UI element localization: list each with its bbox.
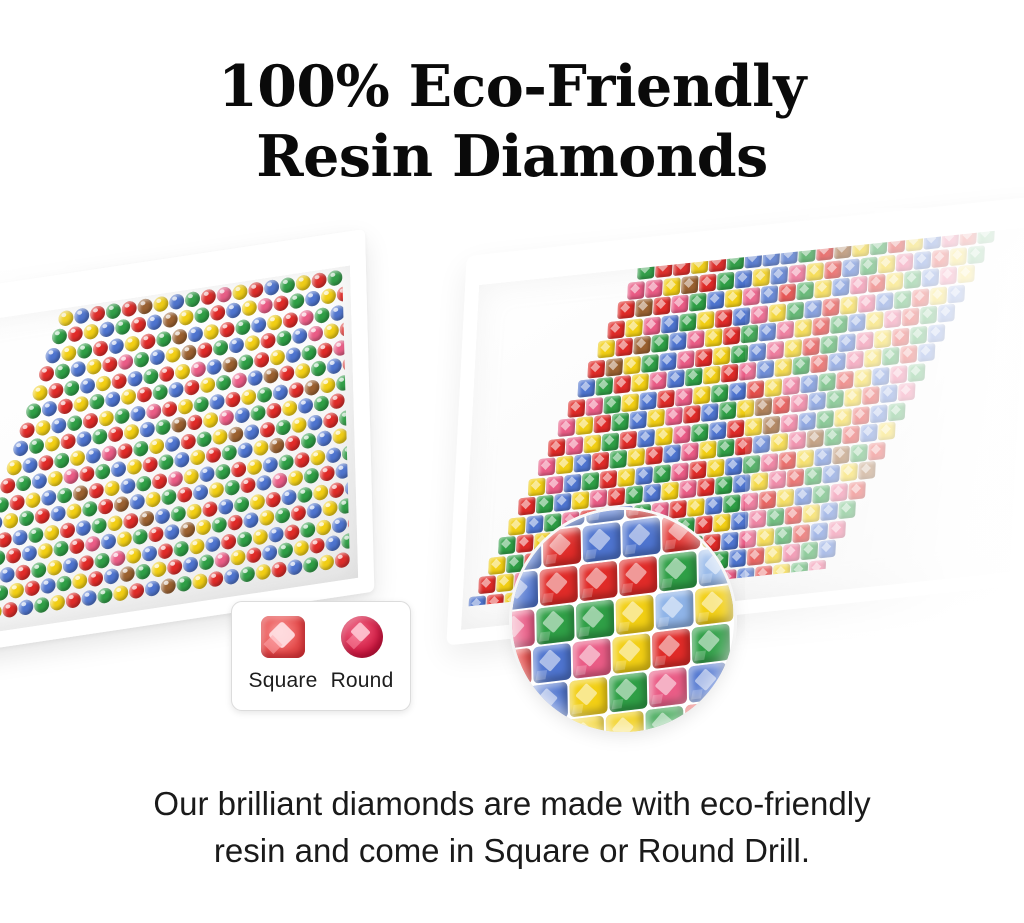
round-gem-icon bbox=[341, 616, 383, 658]
caption-line-1: Our brilliant diamonds are made with eco… bbox=[0, 780, 1024, 827]
zoom-drill-bead bbox=[533, 643, 571, 684]
zoom-drill-bead bbox=[692, 623, 730, 664]
zoom-drill-bead bbox=[512, 648, 532, 689]
zoom-drill-bead bbox=[652, 628, 690, 669]
zoom-detail-field bbox=[512, 510, 734, 732]
zoom-drill-bead bbox=[662, 512, 700, 553]
zoom-drill-bead bbox=[649, 667, 687, 708]
zoom-drill-bead bbox=[606, 711, 644, 732]
zoom-drill-bead bbox=[543, 527, 581, 568]
zoom-drill-bead bbox=[512, 725, 525, 732]
zoom-drill-bead bbox=[688, 662, 726, 703]
zoom-drill-bead bbox=[698, 546, 734, 587]
zoom-drill-bead bbox=[619, 556, 657, 597]
zoom-drill-bead bbox=[695, 585, 733, 626]
zoom-drill-bead bbox=[530, 682, 568, 723]
zoom-drill-bead bbox=[655, 590, 693, 631]
zoom-drill-bead bbox=[540, 566, 578, 607]
zoom-drill-bead bbox=[579, 561, 617, 602]
legend-item-square[interactable]: Square bbox=[249, 616, 318, 693]
tray-rim bbox=[0, 229, 374, 655]
zoom-drill-bead bbox=[569, 677, 607, 718]
caption-line-2: resin and come in Square or Round Drill. bbox=[0, 827, 1024, 874]
legend-item-round[interactable]: Round bbox=[331, 616, 394, 693]
square-gem-icon bbox=[261, 616, 305, 658]
zoom-drill-bead bbox=[622, 517, 660, 558]
legend-label-round: Round bbox=[331, 669, 394, 693]
page-title: 100% Eco-Friendly Resin Diamonds bbox=[0, 52, 1024, 192]
zoom-drill-bead bbox=[583, 522, 621, 563]
zoom-drill-bead bbox=[616, 594, 654, 635]
zoom-detail-circle bbox=[512, 510, 734, 732]
zoom-drill-bead bbox=[609, 672, 647, 713]
zoom-drill-bead bbox=[512, 510, 545, 534]
legend-label-square: Square bbox=[249, 669, 318, 693]
headline-line-1: 100% Eco-Friendly bbox=[218, 53, 806, 120]
zoom-drill-bead bbox=[659, 551, 697, 592]
zoom-drill-bead bbox=[512, 570, 538, 611]
headline-line-2: Resin Diamonds bbox=[0, 122, 1024, 192]
zoom-drill-bead bbox=[702, 510, 734, 548]
zoom-drill-bead bbox=[536, 604, 574, 645]
round-drill-tray bbox=[0, 262, 372, 622]
zoom-drill-bead bbox=[685, 701, 723, 732]
zoom-drill-bead bbox=[612, 633, 650, 674]
product-description: Our brilliant diamonds are made with eco… bbox=[0, 780, 1024, 874]
zoom-drill-bead bbox=[512, 609, 535, 650]
zoom-drill-bead bbox=[573, 638, 611, 679]
zoom-drill-bead bbox=[512, 686, 528, 727]
zoom-drill-bead bbox=[576, 599, 614, 640]
zoom-drill-bead bbox=[645, 706, 683, 732]
drill-shape-legend: Square Round bbox=[231, 601, 411, 711]
product-infographic: 100% Eco-Friendly Resin Diamonds Square bbox=[0, 0, 1024, 923]
zoom-drill-bead bbox=[512, 532, 541, 573]
